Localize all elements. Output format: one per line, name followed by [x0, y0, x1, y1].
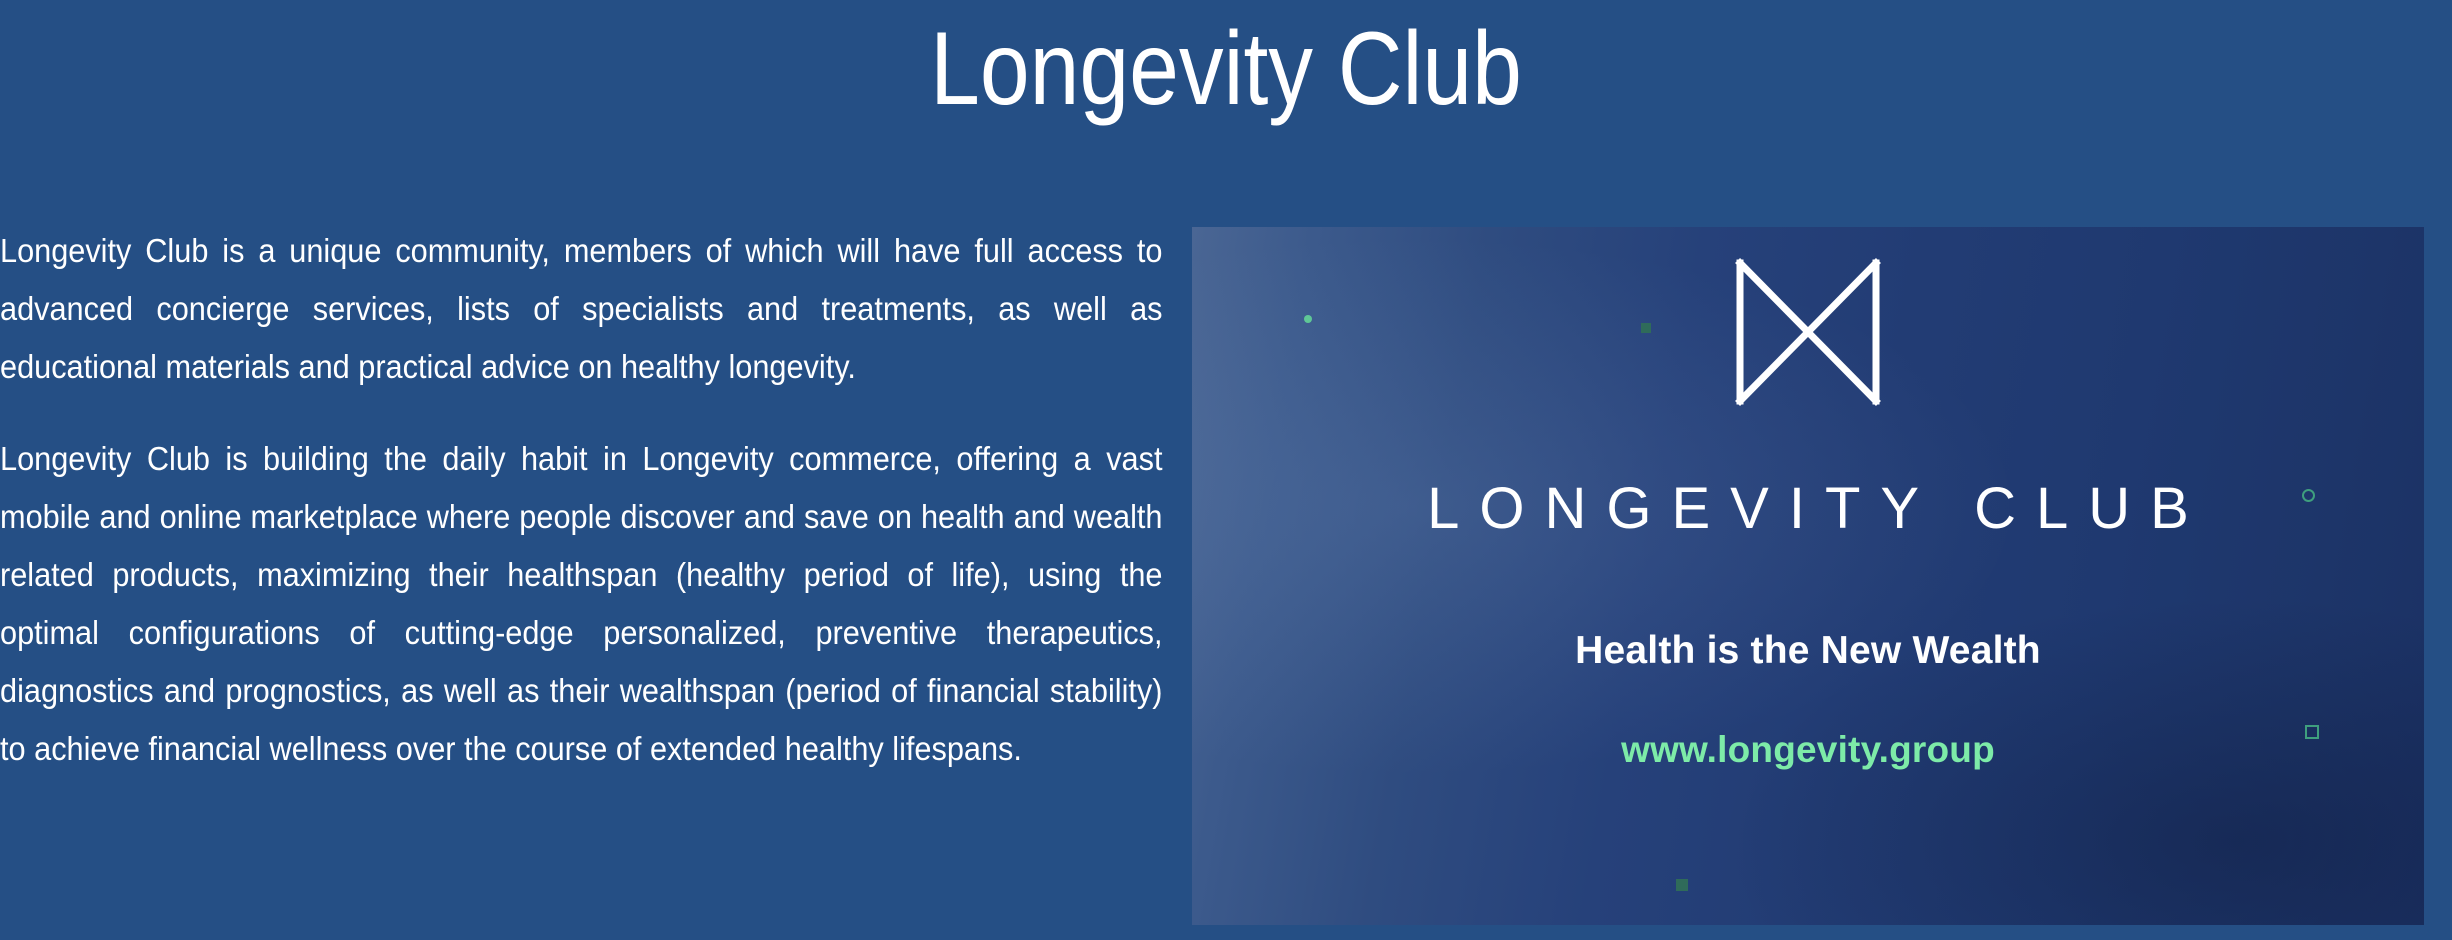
promo-url-link[interactable]: www.longevity.group [1192, 729, 2424, 771]
article-text-column: Longevity Club is a unique community, me… [0, 222, 1163, 778]
bowtie-hourglass-logo-icon [1718, 257, 1898, 407]
promo-wordmark: LONGEVITY CLUB [1192, 475, 2424, 542]
paragraph-1: Longevity Club is a unique community, me… [0, 222, 1163, 396]
promo-content: LONGEVITY CLUB Health is the New Wealth … [1192, 227, 2424, 925]
paragraph-2: Longevity Club is building the daily hab… [0, 430, 1163, 778]
promo-banner: LONGEVITY CLUB Health is the New Wealth … [1192, 227, 2424, 925]
promo-tagline: Health is the New Wealth [1192, 629, 2424, 673]
page-title: Longevity Club [172, 0, 2281, 144]
